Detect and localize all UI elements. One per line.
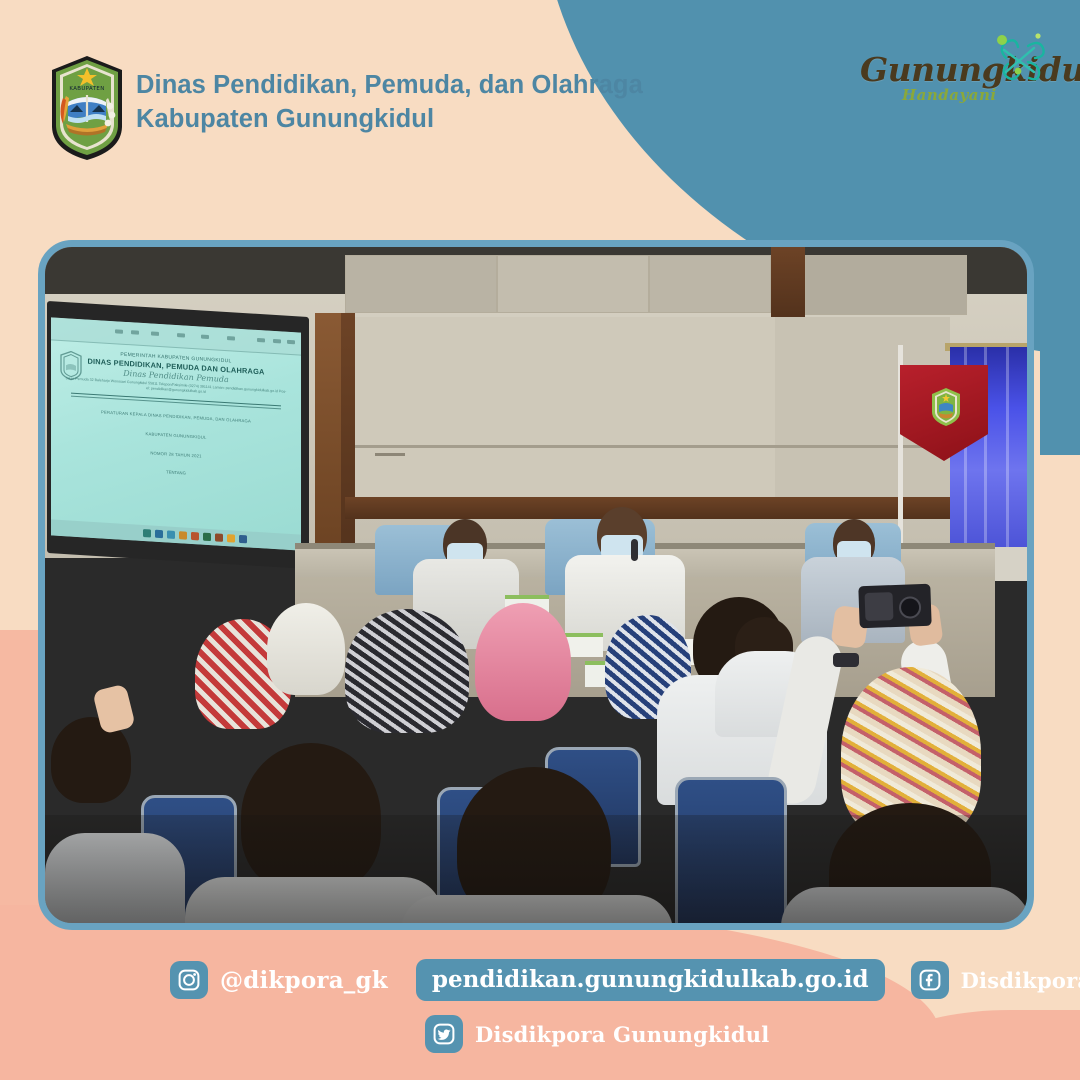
slide-tentang: TENTANG: [65, 464, 287, 483]
facebook-name[interactable]: Disdikpora Gunungkidul: [961, 968, 1080, 993]
audience-member-hijab: [267, 603, 345, 695]
facebook-icon[interactable]: [911, 961, 949, 999]
brand-tagline: Handayani: [902, 86, 997, 104]
microphone-icon: [631, 539, 638, 561]
twitter-icon[interactable]: [425, 1015, 463, 1053]
slide-content: PEMERINTAH KABUPATEN GUNUNGKIDUL DINAS P…: [65, 348, 287, 528]
wall-trim: [375, 453, 405, 456]
slide-letterhead: PEMERINTAH KABUPATEN GUNUNGKIDUL DINAS P…: [65, 348, 287, 400]
instagram-handle[interactable]: @dikpora_gk: [220, 967, 388, 994]
dragonfly-ornament-icon: [988, 28, 1048, 84]
wall-wood-column: [315, 313, 341, 563]
svg-text:KABUPATEN: KABUPATEN: [69, 86, 104, 92]
foreground-shadow: [45, 815, 1027, 923]
poster-header: KABUPATEN Dinas Pendidikan, Pemuda, dan …: [0, 0, 1080, 200]
wall-panel: [355, 317, 775, 497]
poster-canvas: KABUPATEN Dinas Pendidikan, Pemuda, dan …: [0, 0, 1080, 1080]
dept-title-line-1: Dinas Pendidikan, Pemuda, dan Olahraga: [136, 68, 756, 102]
event-photo-card: PEMERINTAH KABUPATEN GUNUNGKIDUL DINAS P…: [38, 240, 1034, 930]
dept-title-line-2: Kabupaten Gunungkidul: [136, 102, 756, 136]
event-photo: PEMERINTAH KABUPATEN GUNUNGKIDUL DINAS P…: [45, 247, 1027, 923]
page-title: Dinas Pendidikan, Pemuda, dan Olahraga K…: [136, 68, 756, 136]
wall-wood-rail: [345, 497, 955, 519]
slide-sub-1: PERATURAN KEPALA DINAS PENDIDIKAN, PEMUD…: [65, 406, 287, 429]
footer-row-twitter: Disdikpora Gunungkidul: [425, 1015, 769, 1053]
slide-sub-2: KABUPATEN GUNUNGKIDUL: [65, 425, 287, 448]
wall-panel: [649, 255, 771, 313]
wall-wood-column: [341, 313, 355, 563]
audience-member-hijab: [345, 609, 469, 733]
wall-panel: [805, 255, 967, 315]
wall-wood-beam: [771, 247, 805, 317]
slide-sub-3: NOMOR 28 TAHUN 2021: [65, 444, 287, 467]
website-url[interactable]: pendidikan.gunungkidulkab.go.id: [416, 959, 885, 1001]
footer-row-primary: @dikpora_gk pendidikan.gunungkidulkab.go…: [170, 959, 1080, 1001]
twitter-name[interactable]: Disdikpora Gunungkidul: [475, 1022, 769, 1047]
projector-screen: PEMERINTAH KABUPATEN GUNUNGKIDUL DINAS P…: [51, 317, 301, 550]
audience-member-hijab: [475, 603, 571, 721]
gunungkidul-regency-coat-of-arms-icon: KABUPATEN: [44, 54, 130, 162]
pennant-crest-icon: [929, 387, 963, 427]
smartphone: [858, 584, 931, 628]
instagram-icon[interactable]: [170, 961, 208, 999]
gunungkidul-brand-logo: Gunungkidul Handayani: [860, 42, 1060, 122]
poster-footer: @dikpora_gk pendidikan.gunungkidulkab.go…: [0, 945, 1080, 1080]
wall-panel: [497, 255, 649, 313]
wall-panel: [345, 255, 497, 313]
wristwatch: [833, 653, 859, 667]
wall-trim: [355, 445, 950, 448]
